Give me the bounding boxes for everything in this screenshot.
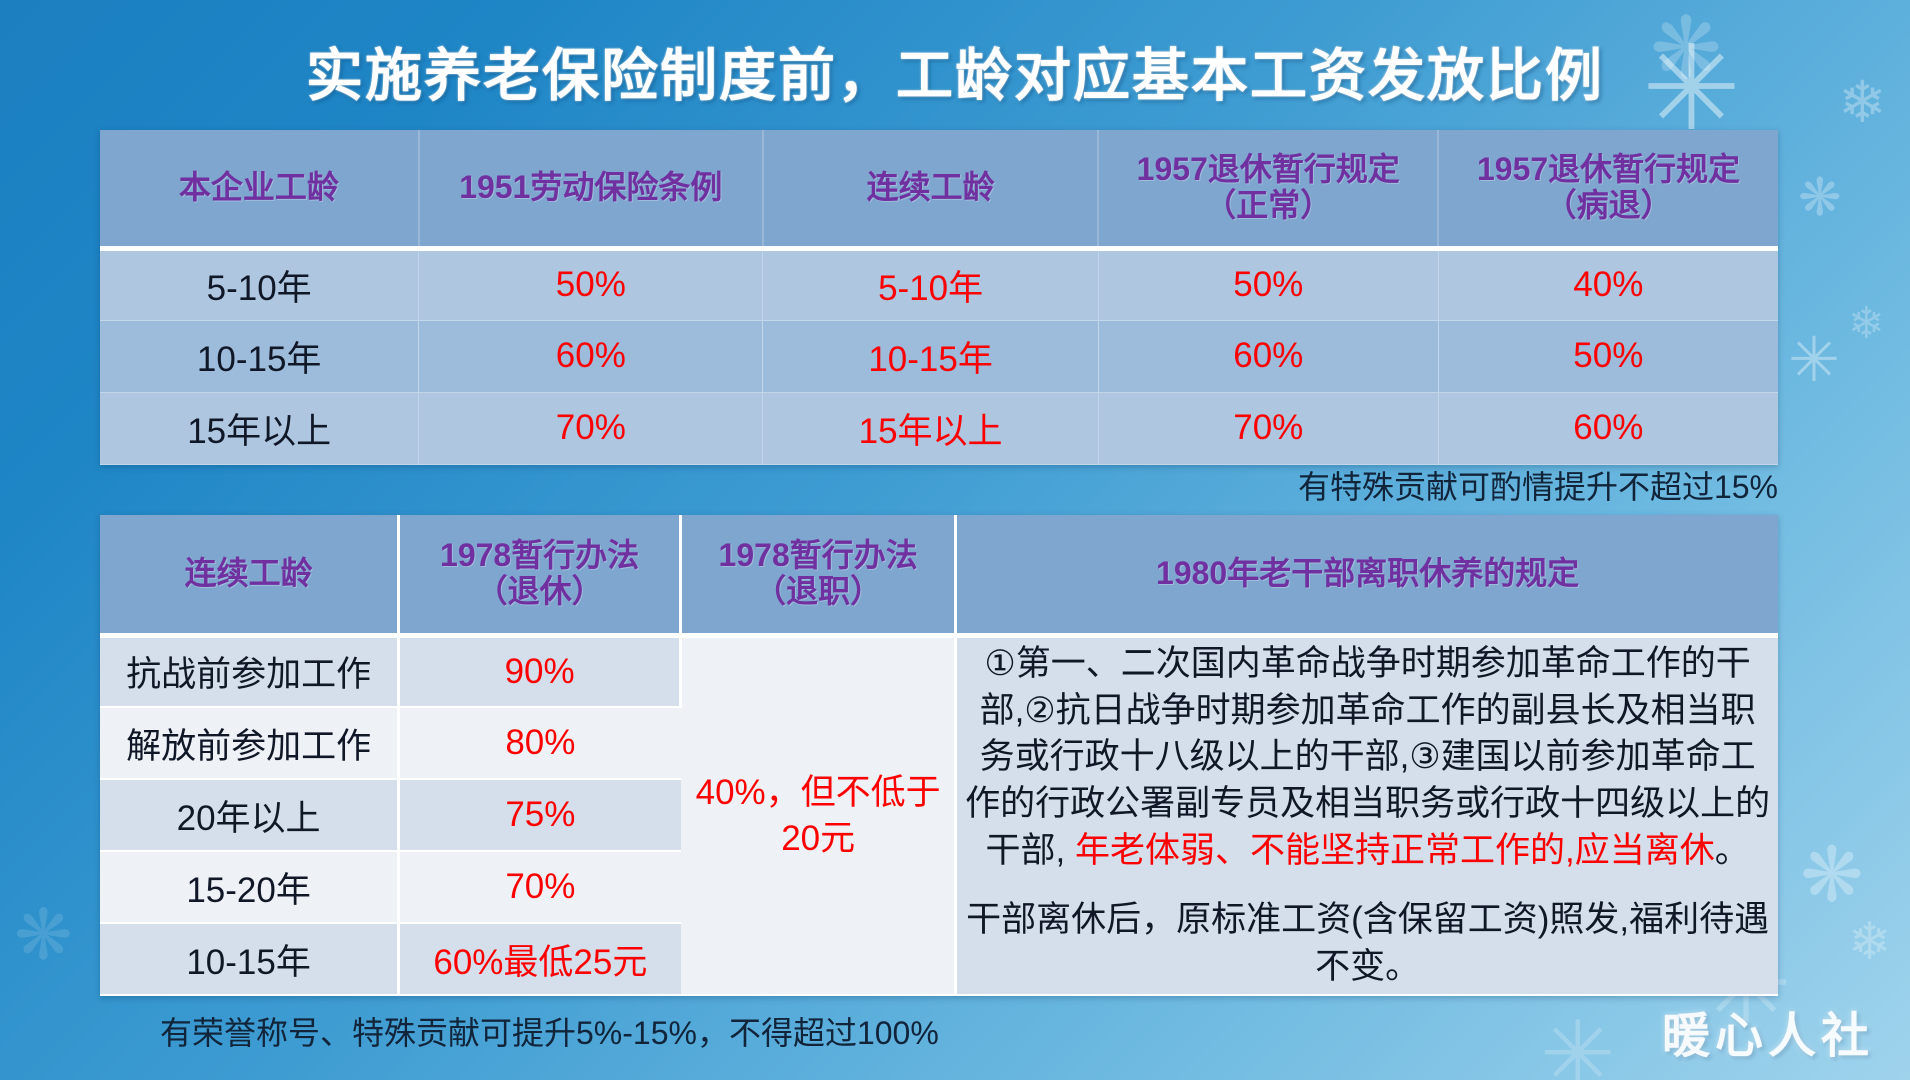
snowflake-icon: ❄ [1848,302,1885,346]
table-1-cell: 15年以上 [100,392,419,464]
table-2-note: 有荣誉称号、特殊贡献可提升5%-15%，不得超过100% [160,1008,939,1054]
table-1-cell: 40% [1438,248,1778,320]
desc-part-2: 。 [1715,831,1750,870]
table-2-cell: 80% [399,707,681,779]
table-row: 抗战前参加工作 90% 40%，但不低于20元 ①第一、二次国内革命战争时期参加… [100,635,1778,707]
table-row: 15年以上 70% 15年以上 70% 60% [100,392,1778,464]
table-1-cell: 70% [1098,392,1438,464]
table-1-cell: 15年以上 [763,392,1099,464]
table-1-cell: 5-10年 [763,248,1099,320]
table-1-cell: 70% [419,392,763,464]
table-1-cell: 10-15年 [100,320,419,392]
snowflake-icon: ✳ [1540,1010,1615,1080]
table-1-cell: 50% [1098,248,1438,320]
table-1-cell: 60% [1098,320,1438,392]
table-1-cell: 5-10年 [100,248,419,320]
table-2-cell: 90% [399,635,681,707]
table-1-col-header-1957-normal: 1957退休暂行规定（正常） [1098,130,1438,248]
table-1-body: 5-10年 50% 5-10年 50% 40% 10-15年 60% 10-15… [100,248,1778,464]
table-2-header: 连续工龄 1978暂行办法（退休） 1978暂行办法（退职） 1980年老干部离… [100,515,1778,635]
snowflake-icon: ✳ [1788,330,1840,392]
table-2-veteran-cadre-description: ①第一、二次国内革命战争时期参加革命工作的干部,②抗日战争时期参加革命工作的副县… [956,635,1778,995]
table-1-col-header-enterprise-seniority: 本企业工龄 [100,130,419,248]
table-1-cell: 50% [419,248,763,320]
page-title: 实施养老保险制度前，工龄对应基本工资发放比例 [0,30,1910,112]
table-1-cell: 60% [1438,392,1778,464]
snowflake-icon: ❋ [14,900,73,970]
table-row: 5-10年 50% 5-10年 50% 40% [100,248,1778,320]
table-2-body: 抗战前参加工作 90% 40%，但不低于20元 ①第一、二次国内革命战争时期参加… [100,635,1778,995]
seniority-ratio-table-2: 连续工龄 1978暂行办法（退休） 1978暂行办法（退职） 1980年老干部离… [100,515,1778,996]
table-1-header-row: 本企业工龄 1951劳动保险条例 连续工龄 1957退休暂行规定（正常） 195… [100,130,1778,248]
table-2-col-header-1980-veteran-cadre: 1980年老干部离职休养的规定 [956,515,1778,635]
snowflake-icon: ❋ [1798,172,1842,224]
slide-canvas: ❋ ❄ ✳ ❋ ❄ ✳ ❋ ✳ ❄ ❋ ✳ 实施养老保险制度前，工龄对应基本工资… [0,0,1910,1080]
table-2-cell: 10-15年 [100,923,399,995]
table-2-col-header-1978-resign: 1978暂行办法（退职） [681,515,956,635]
table-1-container: 本企业工龄 1951劳动保险条例 连续工龄 1957退休暂行规定（正常） 195… [100,130,1778,465]
table-2-cell: 15-20年 [100,851,399,923]
table-row: 10-15年 60% 10-15年 60% 50% [100,320,1778,392]
desc-part-3: 干部离休后，原标准工资(含保留工资)照发,福利待遇不变。 [966,900,1769,986]
table-1-note: 有特殊贡献可酌情提升不超过15% [0,462,1778,508]
snowflake-icon: ❄ [1848,916,1892,968]
table-2-cell: 抗战前参加工作 [100,635,399,707]
table-2-cell: 60%最低25元 [399,923,681,995]
table-2-cell: 解放前参加工作 [100,707,399,779]
table-1-col-header-1957-sick: 1957退休暂行规定（病退） [1438,130,1778,248]
table-2-container: 连续工龄 1978暂行办法（退休） 1978暂行办法（退职） 1980年老干部离… [100,515,1778,996]
snowflake-icon: ❋ [1800,838,1864,914]
table-1-cell: 10-15年 [763,320,1099,392]
seniority-ratio-table-1: 本企业工龄 1951劳动保险条例 连续工龄 1957退休暂行规定（正常） 195… [100,130,1778,465]
table-2-header-row: 连续工龄 1978暂行办法（退休） 1978暂行办法（退职） 1980年老干部离… [100,515,1778,635]
table-2-col-header-continuous-seniority: 连续工龄 [100,515,399,635]
table-1-col-header-continuous-seniority: 连续工龄 [763,130,1099,248]
table-1-col-header-1951-labor-insurance: 1951劳动保险条例 [419,130,763,248]
table-1-header: 本企业工龄 1951劳动保险条例 连续工龄 1957退休暂行规定（正常） 195… [100,130,1778,248]
table-2-cell: 20年以上 [100,779,399,851]
desc-part-red: 年老体弱、不能坚持正常工作的,应当离休 [1075,831,1715,870]
table-2-resign-value: 40%，但不低于20元 [681,635,956,995]
table-2-cell: 70% [399,851,681,923]
table-1-cell: 60% [419,320,763,392]
table-2-col-header-1978-retire: 1978暂行办法（退休） [399,515,681,635]
watermark-logo: 暖心人社 [1662,996,1874,1066]
table-1-cell: 50% [1438,320,1778,392]
desc-spacer [963,875,1772,897]
table-2-cell: 75% [399,779,681,851]
